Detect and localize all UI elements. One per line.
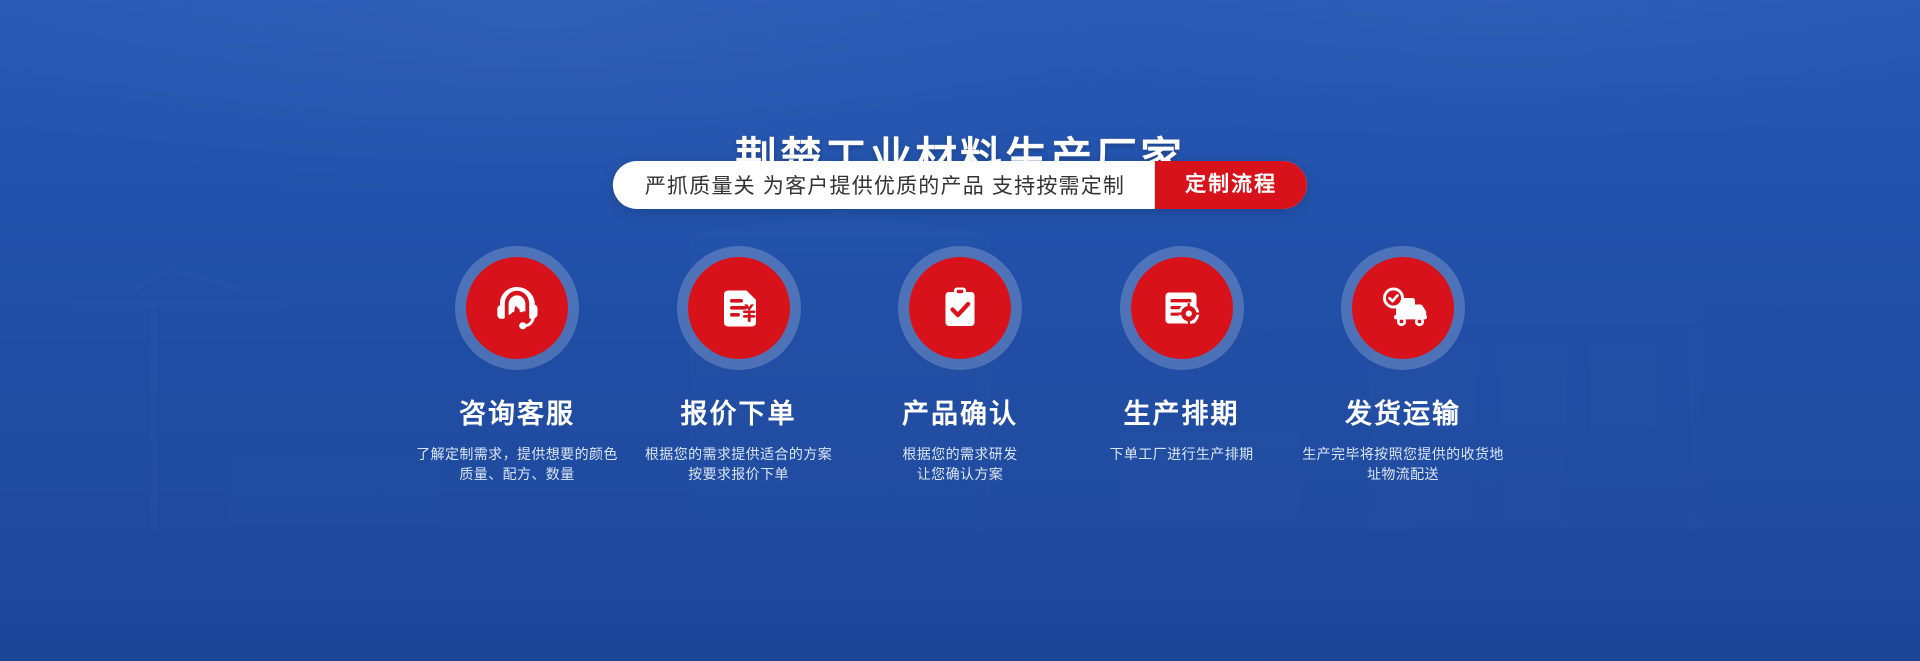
step-description-line: 了解定制需求，提供想要的颜色 bbox=[416, 444, 618, 464]
step-icon-disc bbox=[1131, 257, 1233, 359]
step-description-line: 让您确认方案 bbox=[902, 464, 1017, 484]
step-icon-ring bbox=[677, 246, 801, 370]
step-icon-disc bbox=[688, 257, 790, 359]
step-icon-ring bbox=[455, 246, 579, 370]
step-title: 报价下单 bbox=[681, 392, 797, 431]
step-description-line: 址物流配送 bbox=[1302, 464, 1504, 484]
clipboard-check-icon bbox=[935, 283, 985, 333]
process-steps: 咨询客服 了解定制需求，提供想要的颜色 质量、配方、数量 bbox=[410, 246, 1510, 484]
step-description: 了解定制需求，提供想要的颜色 质量、配方、数量 bbox=[416, 444, 618, 484]
process-step[interactable]: 咨询客服 了解定制需求，提供想要的颜色 质量、配方、数量 bbox=[410, 246, 624, 484]
step-description: 根据您的需求提供适合的方案 按要求报价下单 bbox=[645, 444, 832, 484]
process-step[interactable]: 产品确认 根据您的需求研发 让您确认方案 bbox=[853, 246, 1067, 484]
step-description-line: 质量、配方、数量 bbox=[416, 464, 618, 484]
step-icon-ring bbox=[1120, 246, 1244, 370]
custom-process-button[interactable]: 定制流程 bbox=[1155, 161, 1307, 209]
step-description-line: 根据您的需求提供适合的方案 bbox=[645, 444, 832, 464]
delivery-truck-check-icon bbox=[1376, 281, 1430, 335]
process-step[interactable]: 发货运输 生产完毕将按照您提供的收货地 址物流配送 bbox=[1296, 246, 1510, 484]
document-gear-icon bbox=[1157, 283, 1207, 333]
process-step[interactable]: 生产排期 下单工厂进行生产排期 bbox=[1075, 246, 1289, 484]
step-icon-ring bbox=[1341, 246, 1465, 370]
promo-banner: 荆楚工业材料生产厂家 严抓质量关 为客户提供优质的产品 支持按需定制 定制流程 bbox=[0, 0, 1920, 661]
step-description-line: 下单工厂进行生产排期 bbox=[1110, 444, 1254, 464]
step-description: 下单工厂进行生产排期 bbox=[1110, 444, 1254, 464]
quote-invoice-icon bbox=[714, 283, 764, 333]
step-title: 产品确认 bbox=[902, 392, 1018, 431]
step-description-line: 根据您的需求研发 bbox=[902, 444, 1017, 464]
step-description-line: 按要求报价下单 bbox=[645, 464, 832, 484]
process-step[interactable]: 报价下单 根据您的需求提供适合的方案 按要求报价下单 bbox=[632, 246, 846, 484]
step-icon-disc bbox=[466, 257, 568, 359]
banner-content: 荆楚工业材料生产厂家 严抓质量关 为客户提供优质的产品 支持按需定制 定制流程 bbox=[0, 0, 1920, 661]
step-icon-ring bbox=[898, 246, 1022, 370]
step-description: 生产完毕将按照您提供的收货地 址物流配送 bbox=[1302, 444, 1504, 484]
step-description-line: 生产完毕将按照您提供的收货地 bbox=[1302, 444, 1504, 464]
step-title: 咨询客服 bbox=[459, 392, 575, 431]
headset-support-icon bbox=[490, 281, 544, 335]
step-title: 发货运输 bbox=[1345, 392, 1461, 431]
step-description: 根据您的需求研发 让您确认方案 bbox=[902, 444, 1017, 484]
slogan-text: 严抓质量关 为客户提供优质的产品 支持按需定制 bbox=[645, 170, 1155, 200]
slogan-bar: 严抓质量关 为客户提供优质的产品 支持按需定制 定制流程 bbox=[613, 161, 1307, 209]
step-icon-disc bbox=[1352, 257, 1454, 359]
step-title: 生产排期 bbox=[1124, 392, 1240, 431]
step-icon-disc bbox=[909, 257, 1011, 359]
